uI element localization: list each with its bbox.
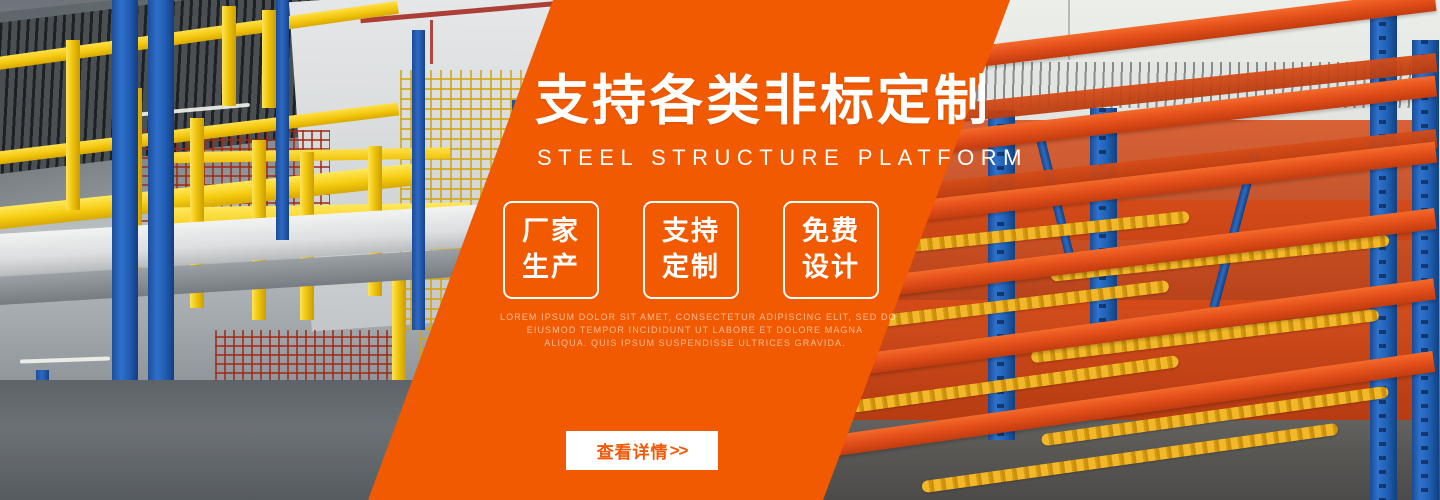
feature-badge-line2: 定制 (662, 250, 720, 286)
feature-badge-free-design: 免费 设计 (783, 201, 879, 299)
view-details-button[interactable]: 查看详情>> (566, 431, 718, 470)
feature-badge-line1: 免费 (802, 214, 860, 250)
banner-content: 支持各类非标定制 STEEL STRUCTURE PLATFORM 厂家 生产 … (0, 0, 1440, 500)
view-details-label: 查看详情 (597, 438, 669, 463)
feature-badge-line2: 设计 (802, 250, 860, 286)
page-subtitle: STEEL STRUCTURE PLATFORM (537, 145, 1028, 171)
feature-badge-line2: 生产 (522, 250, 580, 286)
description-line-1: LOREM IPSUM DOLOR SIT AMET, CONSECTETUR … (500, 311, 890, 324)
feature-badge-list: 厂家 生产 支持 定制 免费 设计 (503, 201, 879, 299)
feature-badge-manufacturer: 厂家 生产 (503, 201, 599, 299)
description-line-2: EIUSMOD TEMPOR INCIDIDUNT UT LABORE ET D… (500, 324, 890, 337)
page-title: 支持各类非标定制 (535, 72, 991, 130)
double-chevron-right-icon: >> (670, 441, 688, 461)
feature-badge-customization: 支持 定制 (643, 201, 739, 299)
feature-badge-line1: 厂家 (522, 214, 580, 250)
promo-banner: 支持各类非标定制 STEEL STRUCTURE PLATFORM 厂家 生产 … (0, 0, 1440, 500)
description-text: LOREM IPSUM DOLOR SIT AMET, CONSECTETUR … (500, 311, 890, 350)
description-line-3: ALIQUA. QUIS IPSUM SUSPENDISSE ULTRICES … (500, 337, 890, 350)
feature-badge-line1: 支持 (662, 214, 720, 250)
